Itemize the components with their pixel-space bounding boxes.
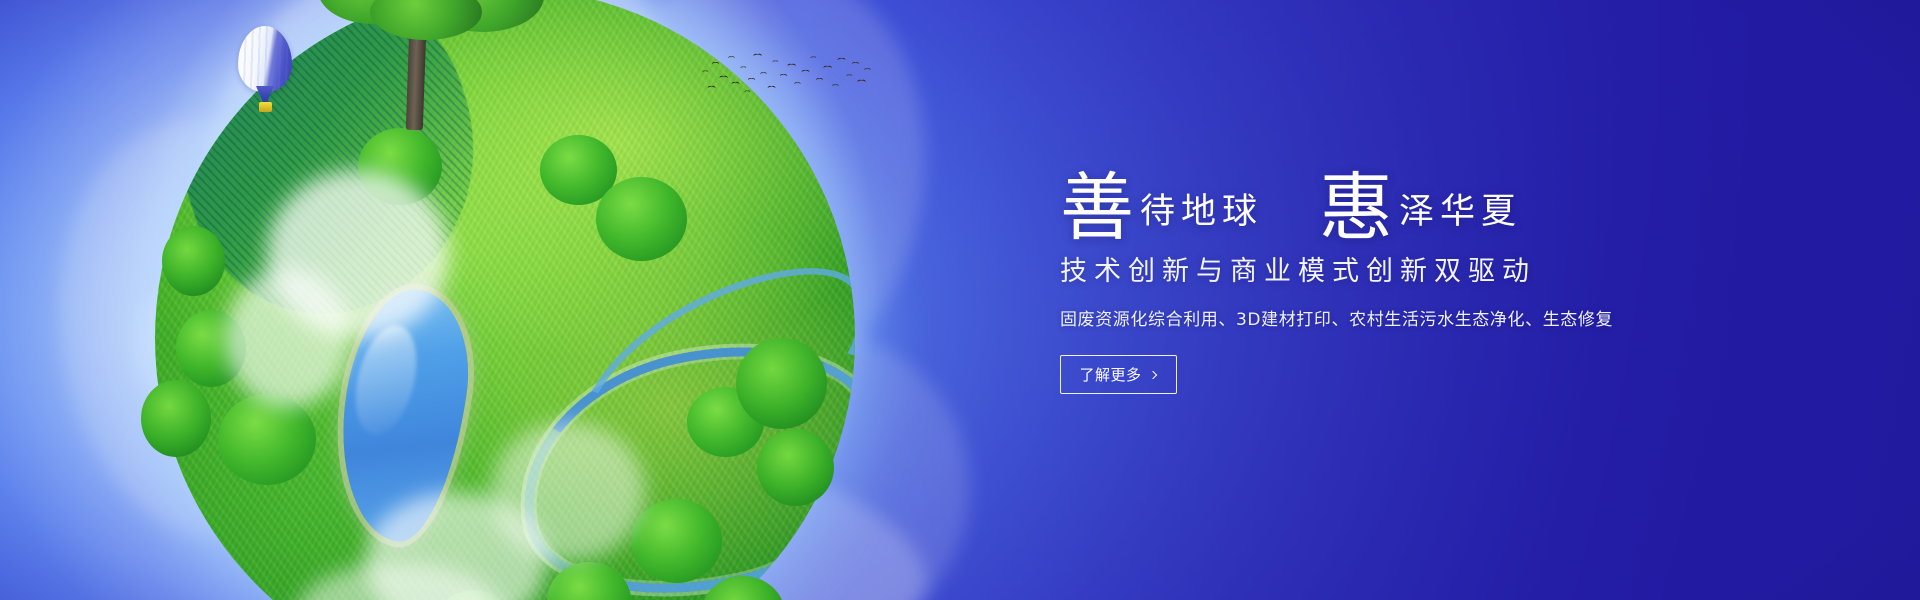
learn-more-label: 了解更多: [1079, 364, 1141, 385]
description-text: 固废资源化综合利用、3D建材打印、农村生活污水生态净化、生态修复: [1060, 305, 1760, 330]
headline-small-2: 泽华夏: [1393, 195, 1522, 230]
headline-brush-char-1: 善: [1060, 174, 1134, 242]
chevron-right-icon: [1148, 371, 1156, 379]
eco-hero-banner: 善 待地球 惠 泽华夏 技术创新与商业模式创新双驱动 固废资源化综合利用、3D建…: [0, 0, 1920, 600]
hero-copy: 善 待地球 惠 泽华夏 技术创新与商业模式创新双驱动 固废资源化综合利用、3D建…: [1060, 148, 1760, 394]
tagline: 技术创新与商业模式创新双驱动: [1060, 256, 1760, 288]
learn-more-button[interactable]: 了解更多: [1060, 355, 1177, 394]
headline-brush-char-2: 惠: [1319, 174, 1393, 242]
headline-small-1: 待地球: [1134, 195, 1263, 230]
page-title: 善 待地球 惠 泽华夏: [1060, 148, 1760, 236]
